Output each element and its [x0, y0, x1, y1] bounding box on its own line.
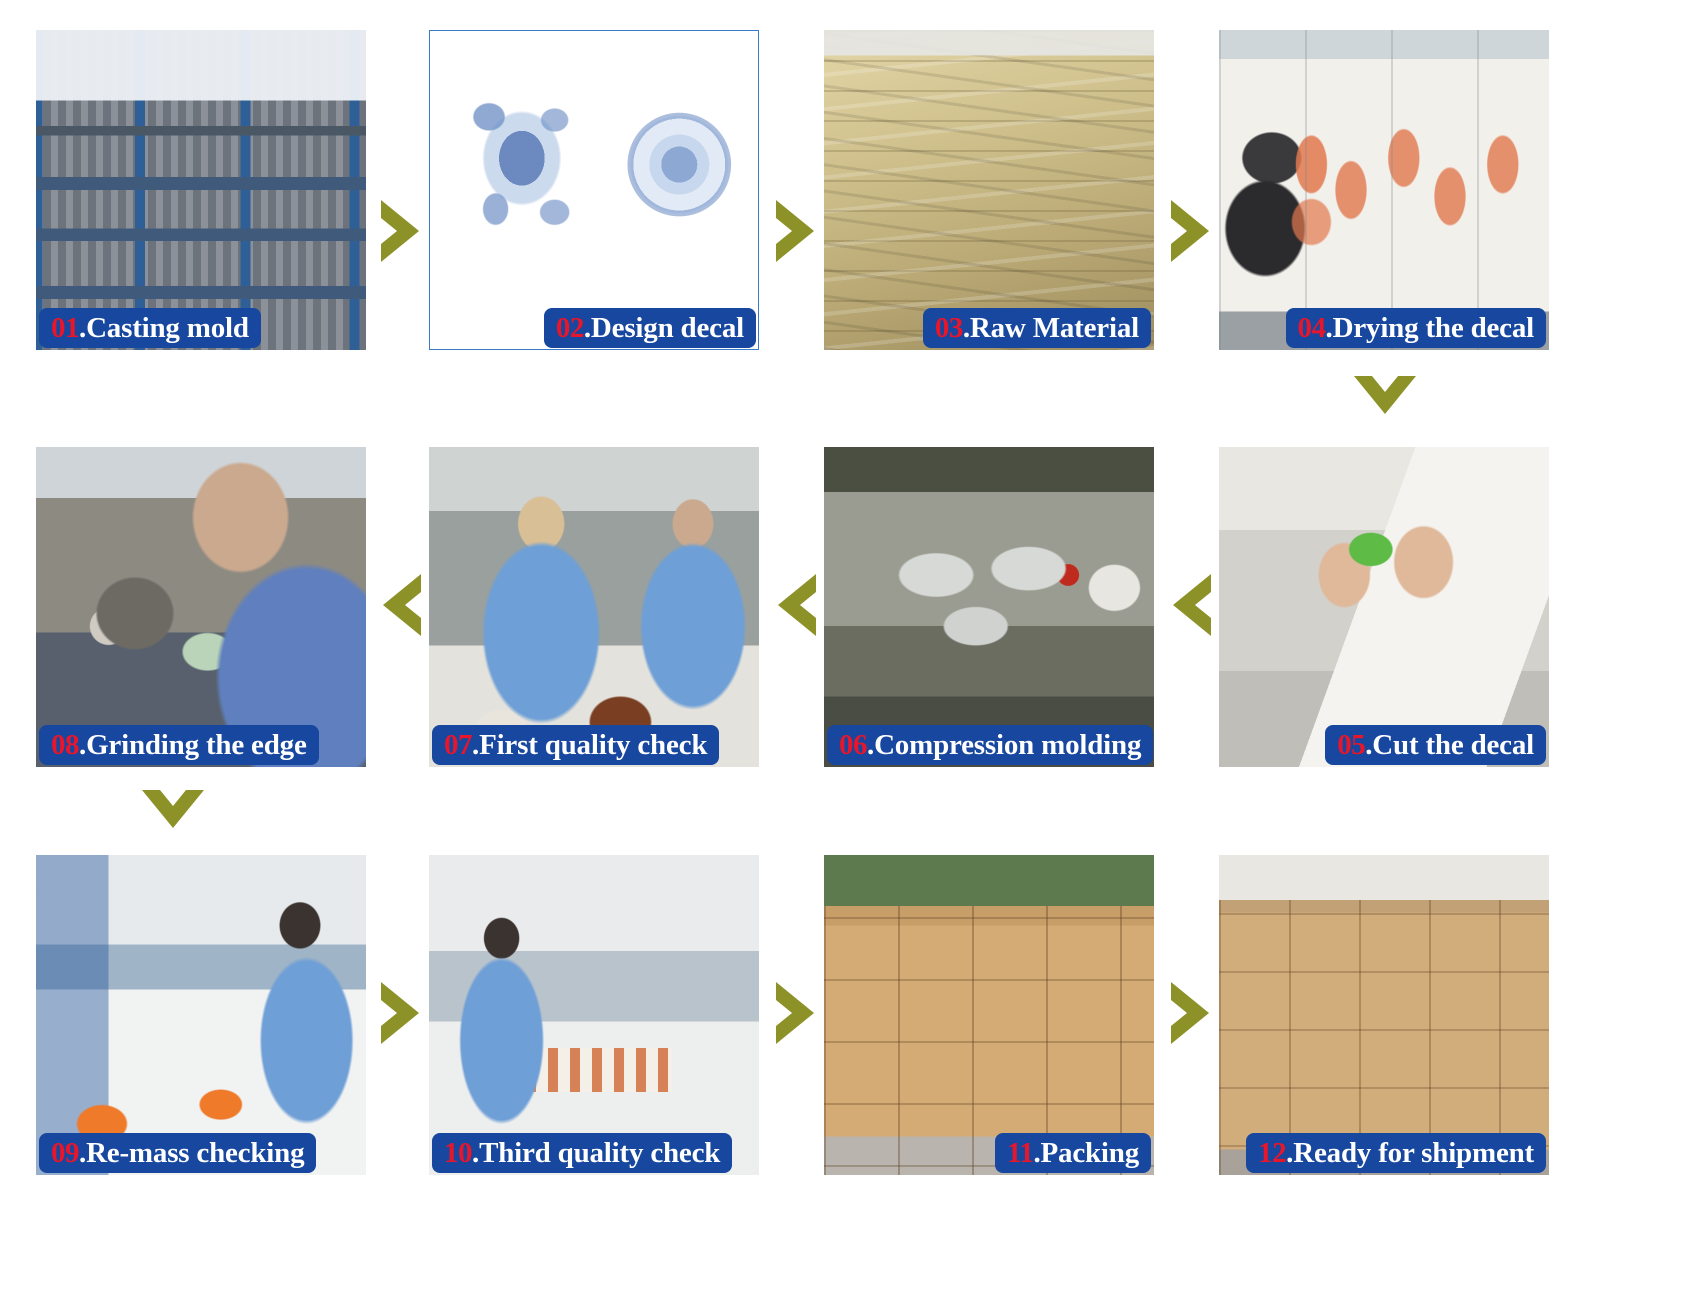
step-text-04: Drying the decal: [1333, 314, 1534, 343]
step-label-12: 12.Ready for shipment: [1246, 1133, 1546, 1173]
step-sep-08: .: [79, 731, 86, 760]
photo-worker-re-mass-checking: [36, 855, 366, 1175]
step-sep-09: .: [79, 1139, 86, 1168]
flow-step-card-07[interactable]: 07. First quality check: [429, 447, 759, 767]
flow-step-card-03[interactable]: 03.Raw Material: [824, 30, 1154, 350]
step-label-01: 01.Casting mold: [39, 308, 261, 348]
flow-step-card-08[interactable]: 08.Grinding the edge: [36, 447, 366, 767]
step-sep-03: .: [963, 314, 970, 343]
photo-worker-grinding-plate-edge: [36, 447, 366, 767]
step-sep-01: .: [79, 314, 86, 343]
photo-compression-molding-press: [824, 447, 1154, 767]
arrow-08-to-09: [128, 780, 218, 840]
step-sep-06: .: [867, 731, 874, 760]
step-label-11: 11.Packing: [995, 1133, 1151, 1173]
step-number-09: 09: [51, 1139, 79, 1168]
flow-step-card-11[interactable]: 11.Packing: [824, 855, 1154, 1175]
flow-step-card-04[interactable]: 04.Drying the decal: [1219, 30, 1549, 350]
step-label-10: 10.Third quality check: [432, 1133, 732, 1173]
step-number-12: 12: [1258, 1139, 1286, 1168]
step-label-03: 03.Raw Material: [923, 308, 1151, 348]
step-label-06: 06.Compression molding: [827, 725, 1153, 765]
step-sep-07: .: [472, 731, 479, 760]
photo-worker-third-quality-check: [429, 855, 759, 1175]
step-number-02: 02: [556, 314, 584, 343]
step-sep-12: .: [1286, 1139, 1293, 1168]
flow-step-card-12[interactable]: 12.Ready for shipment: [1219, 855, 1549, 1175]
flow-step-card-10[interactable]: 10.Third quality check: [429, 855, 759, 1175]
production-flow-diagram: 01.Casting mold 02.Design decal 03.Raw M…: [0, 0, 1688, 1296]
arrow-11-to-12: [1161, 968, 1221, 1058]
step-label-04: 04.Drying the decal: [1286, 308, 1546, 348]
step-text-11: Packing: [1041, 1139, 1140, 1168]
step-label-09: 09.Re-mass checking: [39, 1133, 316, 1173]
arrow-06-to-07: [766, 560, 826, 650]
photo-worker-drying-decal-rack: [1219, 30, 1549, 350]
step-number-10: 10: [444, 1139, 472, 1168]
flow-row-2: 08.Grinding the edge 07. First quality c…: [0, 447, 1688, 767]
flow-step-card-09[interactable]: 09.Re-mass checking: [36, 855, 366, 1175]
arrow-10-to-11: [766, 968, 826, 1058]
arrow-05-to-06: [1161, 560, 1221, 650]
arrow-09-to-10: [371, 968, 431, 1058]
flow-step-card-05[interactable]: 05.Cut the decal: [1219, 447, 1549, 767]
step-number-01: 01: [51, 314, 79, 343]
step-text-10: Third quality check: [479, 1139, 720, 1168]
flow-step-card-01[interactable]: 01.Casting mold: [36, 30, 366, 350]
flow-row-1: 01.Casting mold 02.Design decal 03.Raw M…: [0, 30, 1688, 350]
step-number-08: 08: [51, 731, 79, 760]
step-label-02: 02.Design decal: [544, 308, 756, 348]
step-label-07: 07. First quality check: [432, 725, 719, 765]
step-text-12: Ready for shipment: [1293, 1139, 1534, 1168]
flow-step-card-06[interactable]: 06.Compression molding: [824, 447, 1154, 767]
photo-blue-floral-decal-design: [429, 30, 759, 350]
photo-stacked-raw-material-sacks: [824, 30, 1154, 350]
step-text-02: Design decal: [591, 314, 744, 343]
step-text-05: Cut the decal: [1372, 731, 1534, 760]
step-sep-11: .: [1033, 1139, 1040, 1168]
photo-packing-cartons-outdoor: [824, 855, 1154, 1175]
step-number-07: 07: [444, 731, 472, 760]
step-label-05: 05.Cut the decal: [1325, 725, 1546, 765]
step-text-07: First quality check: [479, 731, 707, 760]
arrow-02-to-03: [766, 186, 826, 276]
step-number-06: 06: [839, 731, 867, 760]
photo-casting-mold-factory-racks: [36, 30, 366, 350]
step-label-08: 08.Grinding the edge: [39, 725, 319, 765]
step-text-08: Grinding the edge: [86, 731, 307, 760]
step-text-03: Raw Material: [970, 314, 1139, 343]
step-text-06: Compression molding: [874, 731, 1141, 760]
step-sep-02: .: [584, 314, 591, 343]
flow-step-card-02[interactable]: 02.Design decal: [429, 30, 759, 350]
step-sep-05: .: [1365, 731, 1372, 760]
step-number-05: 05: [1337, 731, 1365, 760]
step-text-01: Casting mold: [86, 314, 249, 343]
arrow-07-to-08: [371, 560, 431, 650]
step-number-11: 11: [1007, 1139, 1033, 1168]
step-number-04: 04: [1298, 314, 1326, 343]
step-text-09: Re-mass checking: [86, 1139, 304, 1168]
flow-row-3: 09.Re-mass checking 10.Third quality che…: [0, 855, 1688, 1175]
photo-warehouse-ready-shipment: [1219, 855, 1549, 1175]
arrow-03-to-04: [1161, 186, 1221, 276]
step-sep-04: .: [1326, 314, 1333, 343]
arrow-01-to-02: [371, 186, 431, 276]
step-number-03: 03: [935, 314, 963, 343]
photo-two-workers-quality-check: [429, 447, 759, 767]
photo-hands-cutting-decal-sheet: [1219, 447, 1549, 767]
step-sep-10: .: [472, 1139, 479, 1168]
arrow-04-to-05: [1340, 366, 1430, 426]
